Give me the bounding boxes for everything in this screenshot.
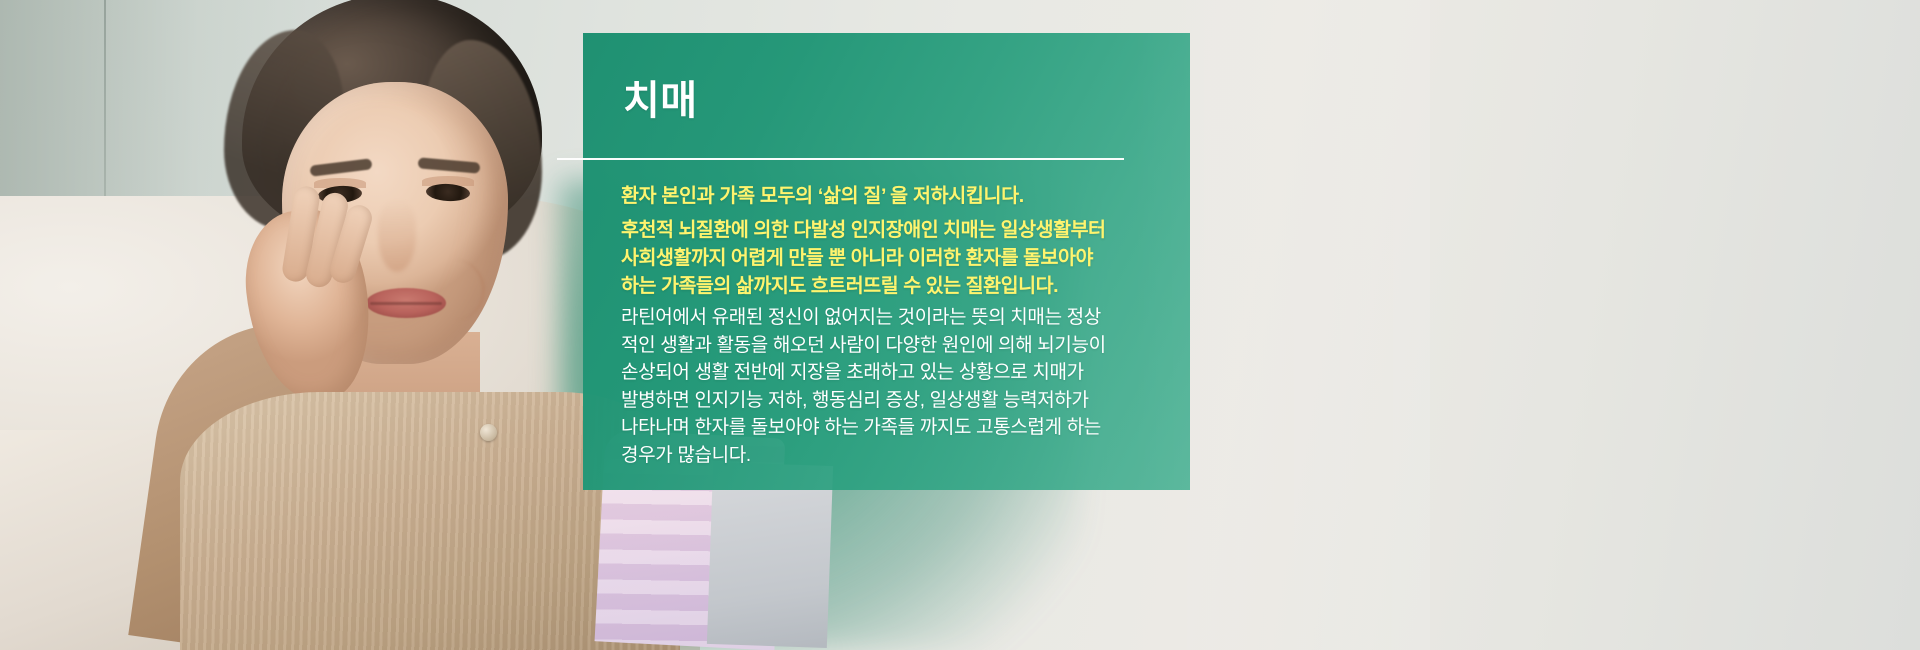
lip-line — [370, 302, 442, 305]
nose — [378, 200, 416, 272]
highlight-line: 사회생활까지 어렵게 만들 뿐 아니라 이러한 환자를 돌보아야 — [621, 244, 1181, 272]
description-line: 라틴어에서 유래된 정신이 없어지는 것이라는 뜻의 치매는 정상 — [621, 304, 1181, 332]
panel-body: 환자 본인과 가족 모두의 ‘삶의 질’ 을 저하시킵니다. 후천적 뇌질환에 … — [621, 181, 1181, 469]
description-paragraph: 라틴어에서 유래된 정신이 없어지는 것이라는 뜻의 치매는 정상 적인 생활과… — [621, 304, 1181, 469]
lead-statement: 환자 본인과 가족 모두의 ‘삶의 질’ 을 저하시킵니다. — [621, 181, 1181, 212]
info-panel-content: 치매 환자 본인과 가족 모두의 ‘삶의 질’ 을 저하시킵니다. 후천적 뇌질… — [583, 33, 1190, 490]
highlight-line: 후천적 뇌질환에 의한 다발성 인지장애인 치매는 일상생활부터 — [621, 216, 1181, 244]
description-line: 경우가 많습니다. — [621, 442, 1181, 470]
page-title: 치매 — [623, 68, 698, 126]
description-line: 적인 생활과 활동을 해오던 사람이 다양한 원인에 의해 뇌기능이 — [621, 332, 1181, 360]
description-line: 발병하면 인지기능 저하, 행동심리 증상, 일상생활 능력저하가 — [621, 387, 1181, 415]
highlight-paragraph: 후천적 뇌질환에 의한 다발성 인지장애인 치매는 일상생활부터 사회생활까지 … — [621, 216, 1181, 300]
cardigan-button — [480, 424, 497, 441]
description-line: 손상되어 생활 전반에 지장을 초래하고 있는 상황으로 치매가 — [621, 359, 1181, 387]
highlight-line: 하는 가족들의 삶까지도 흐트러뜨릴 수 있는 질환입니다. — [621, 272, 1181, 300]
info-panel: 치매 환자 본인과 가족 모두의 ‘삶의 질’ 을 저하시킵니다. 후천적 뇌질… — [583, 33, 1190, 490]
description-line: 나타나며 한자를 돌보아야 하는 가족들 까지도 고통스럽게 하는 — [621, 414, 1181, 442]
title-divider — [557, 158, 1124, 160]
banner-stage: 치매 환자 본인과 가족 모두의 ‘삶의 질’ 을 저하시킵니다. 후천적 뇌질… — [0, 0, 1920, 650]
